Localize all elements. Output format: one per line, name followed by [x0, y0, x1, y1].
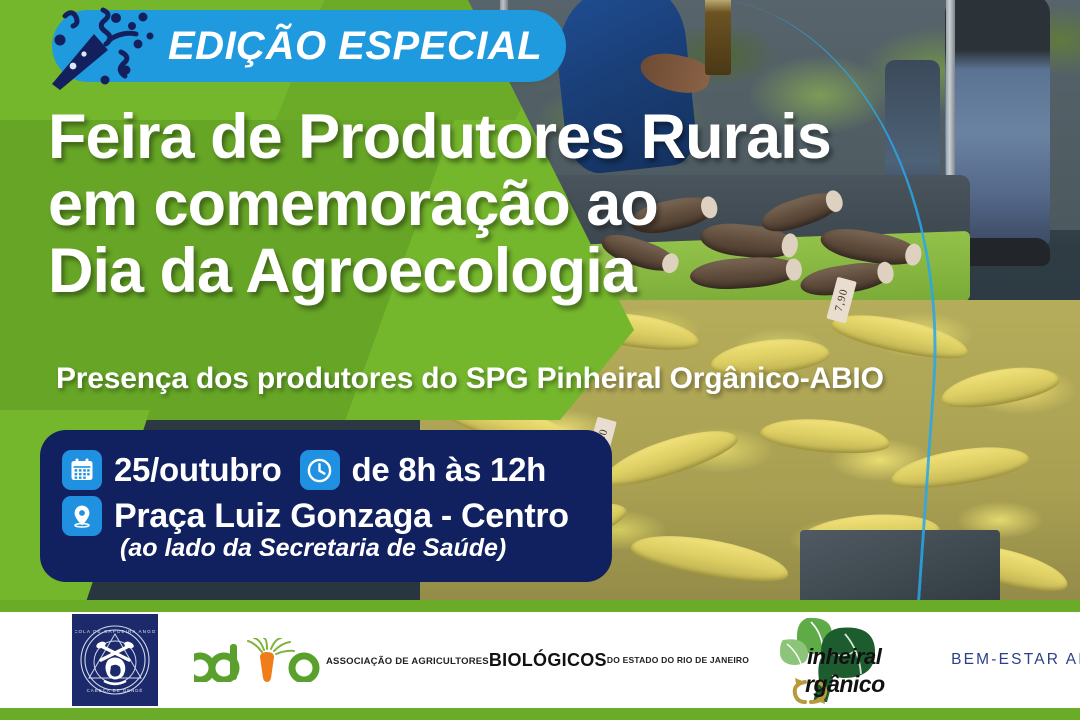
abio-line-1: ASSOCIAÇÃO DE AGRICULTORES — [326, 656, 489, 667]
event-location: Praça Luiz Gonzaga - Centro — [114, 497, 569, 536]
event-location-note: (ao lado da Secretaria de Saúde) — [120, 534, 592, 563]
clock-icon — [300, 450, 340, 490]
special-edition-label: EDIÇÃO ESPECIAL — [168, 24, 542, 69]
headline-line-2: em comemoração ao — [48, 171, 1048, 238]
bem-estar-animal-label: BEM-ESTAR ANIMAL E DESENVOLVIMENTO RURAL — [951, 648, 1080, 671]
footer-logos-bar: ESCOLA DE CAPOEIRA ANGOLA CABEÇA DE DEND… — [0, 612, 1080, 708]
pinheiral-line-2: rgânico — [805, 671, 885, 698]
bem-estar-line-1: BEM-ESTAR ANIMAL E — [951, 648, 1080, 671]
calendar-icon — [62, 450, 102, 490]
pinheiral-line-1: inheiral — [807, 644, 881, 670]
footer-top-stripe — [0, 600, 1080, 612]
banana — [938, 360, 1062, 414]
map-pin-icon — [62, 496, 102, 536]
abio-logo: ASSOCIAÇÃO DE AGRICULTORES BIOLÓGICOS DO… — [194, 638, 749, 682]
event-date: 25/outubro — [114, 451, 282, 489]
abio-line-3: DO ESTADO DO RIO DE JANEIRO — [607, 655, 749, 665]
date-time-row: 25/outubro de 8h às 12h — [62, 450, 592, 490]
location-row: Praça Luiz Gonzaga - Centro — [62, 496, 592, 536]
abio-wordmark-icon — [194, 638, 326, 682]
pinheiral-organico-logo: inheiral rgânico — [775, 614, 907, 706]
headline-line-1: Feira de Produtores Rurais — [48, 104, 1048, 171]
capoeira-school-emblem: ESCOLA DE CAPOEIRA ANGOLA CABEÇA DE DEND… — [72, 614, 158, 706]
page-title: Feira de Produtores Rurais em comemoraçã… — [48, 104, 1048, 304]
party-popper-icon — [46, 4, 166, 92]
headline-line-3: Dia da Agroecologia — [48, 238, 1048, 305]
event-time: de 8h às 12h — [352, 451, 547, 489]
poster-root: 9,80 7,90 EDIÇÃO ESPECIAL Feira de Prod — [0, 0, 1080, 720]
event-details-box: 25/outubro de 8h às 12h Praça Luiz Gonza… — [40, 430, 612, 582]
abio-line-2: BIOLÓGICOS — [489, 651, 607, 670]
svg-text:ESCOLA DE CAPOEIRA ANGOLA: ESCOLA DE CAPOEIRA ANGOLA — [75, 629, 155, 634]
footer-bottom-stripe — [0, 708, 1080, 720]
svg-text:CABEÇA DE DENDÊ: CABEÇA DE DENDÊ — [87, 688, 144, 693]
subtitle: Presença dos produtores do SPG Pinheiral… — [56, 362, 884, 396]
